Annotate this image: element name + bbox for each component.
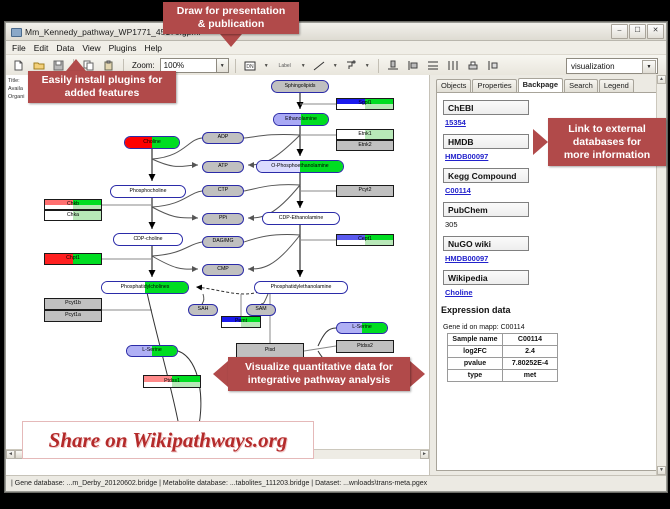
node-label: SAM	[255, 307, 266, 312]
window-controls[interactable]: – ☐ ✕	[611, 24, 664, 39]
section-link-nugo-wiki[interactable]: HMDB00097	[445, 254, 659, 263]
minimize-button[interactable]: –	[611, 24, 628, 39]
metabolite-node-ctp[interactable]: CTP	[202, 185, 244, 197]
node-label: Cept1	[358, 237, 372, 242]
node-label: Pcyt1b	[65, 301, 81, 306]
tab-backpage[interactable]: Backpage	[518, 78, 563, 92]
share-banner: Share on Wikipathways.org	[22, 421, 314, 459]
distribute-horizontal-icon[interactable]	[445, 57, 462, 74]
metabolite-node-l-serine-right[interactable]: L-Serine	[336, 322, 388, 334]
callout-plugins-line2: added features	[42, 87, 163, 100]
node-label: SAH	[198, 307, 209, 312]
scroll-left-arrow-icon[interactable]: ◄	[6, 450, 15, 459]
expression-key: log2FC	[448, 346, 503, 358]
align-bottom-icon[interactable]	[385, 57, 402, 74]
metabolite-node-phosphocholine[interactable]: Phosphocholine	[110, 185, 186, 198]
gene-node-chpt1[interactable]: Chpt1	[44, 253, 102, 265]
gene-node-pemt[interactable]: Pemt	[221, 316, 261, 328]
status-bar-text: | Gene database: ...m_Derby_20120602.bri…	[6, 480, 427, 487]
close-button[interactable]: ✕	[647, 24, 664, 39]
gene-node-ptdss1[interactable]: Ptdss1	[143, 375, 201, 388]
gene-node-sgpl1[interactable]: Sgpl1	[336, 98, 394, 110]
menu-edit[interactable]: Edit	[34, 43, 49, 53]
tab-legend[interactable]: Legend	[599, 79, 634, 92]
gene-node-pcyt1a[interactable]: Pcyt1a	[44, 310, 102, 322]
node-label: Pisd	[265, 348, 275, 353]
datanode-chevron-down-icon[interactable]: ▼	[262, 57, 271, 74]
section-link-wikipedia[interactable]: Choline	[445, 288, 659, 297]
expression-row: pvalue7.80252E-4	[448, 358, 558, 370]
expression-value: C00114	[503, 334, 558, 346]
maximize-button[interactable]: ☐	[629, 24, 646, 39]
gene-node-ptdss2[interactable]: Ptdss2	[336, 340, 394, 353]
node-label: CTP	[218, 188, 228, 193]
visualization-select[interactable]: visualization ▼	[566, 58, 658, 74]
expression-key: type	[448, 370, 503, 382]
menu-view[interactable]: View	[82, 43, 100, 53]
gene-node-etnk1[interactable]: Etnk1	[336, 129, 394, 140]
node-label: Chkb	[67, 202, 79, 207]
node-label: Etnk1	[358, 132, 371, 137]
metabolite-node-l-serine-left[interactable]: L-Serine	[126, 345, 178, 357]
section-heading-nugo-wiki: NuGO wiki	[443, 236, 529, 251]
datanode-icon[interactable]: DN	[242, 57, 259, 74]
node-label: Phosphatidylethanolamine	[271, 285, 332, 290]
pathway-canvas[interactable]: Title: Availa Organi	[6, 75, 430, 475]
node-label: ADP	[218, 135, 229, 140]
node-label: PPi	[219, 216, 227, 221]
callout-draw-line1: Draw for presentation	[177, 5, 286, 18]
node-label: Ptdss2	[357, 344, 373, 349]
callout-visualize-tail-left	[213, 361, 228, 387]
tab-search[interactable]: Search	[564, 79, 598, 92]
node-label: Chka	[67, 213, 79, 218]
distribute-vertical-icon[interactable]	[425, 57, 442, 74]
section-heading-hmdb: HMDB	[443, 134, 529, 149]
visualization-chevron-down-icon[interactable]: ▼	[642, 60, 656, 74]
section-heading-chebi: ChEBI	[443, 100, 529, 115]
section-heading-pubchem: PubChem	[443, 202, 529, 217]
menu-file[interactable]: File	[12, 43, 26, 53]
callout-visualize-tail-right	[410, 361, 425, 387]
node-label: CDP-choline	[133, 237, 162, 242]
node-label: Pcyt2	[359, 188, 372, 193]
gene-node-pcyt1b[interactable]: Pcyt1b	[44, 298, 102, 310]
callout-links-line2: databases for	[564, 136, 650, 149]
scroll-right-arrow-icon[interactable]: ►	[420, 450, 429, 459]
metabolite-node-sah[interactable]: SAH	[188, 304, 218, 316]
metabolite-node-atp[interactable]: ATP	[202, 161, 244, 173]
metabolite-node-sam[interactable]: SAM	[246, 304, 276, 316]
callout-link-external-databases: Link to external databases for more info…	[548, 118, 666, 166]
status-bar: | Gene database: ...m_Derby_20120602.bri…	[6, 475, 666, 491]
expression-key: Sample name	[448, 334, 503, 346]
metabolite-node-cmp[interactable]: CMP	[202, 264, 244, 276]
metabolite-node-dagmg[interactable]: DAG/MG	[202, 236, 244, 248]
metabolite-node-phosphatidylethanolamine[interactable]: Phosphatidylethanolamine	[254, 281, 348, 294]
node-label: ATP	[218, 164, 228, 169]
expression-value: 2.4	[503, 346, 558, 358]
node-label: Phosphatidylcholines	[121, 285, 170, 290]
metabolite-node-choline-top[interactable]: Choline	[124, 136, 180, 149]
node-label: L-Serine	[352, 325, 372, 330]
node-label: Sgpl1	[358, 101, 371, 106]
new-file-icon[interactable]	[10, 57, 27, 74]
zoom-dropdown-chevron-down-icon[interactable]: ▼	[217, 58, 229, 73]
expression-key: pvalue	[448, 358, 503, 370]
gene-id-line: Gene id on mapp: C00114	[443, 324, 659, 331]
line-chevron-down-icon[interactable]: ▼	[331, 57, 340, 74]
gene-node-etnk2[interactable]: Etnk2	[336, 140, 394, 151]
tab-objects[interactable]: Objects	[436, 79, 471, 92]
metabolite-node-sphingolipids[interactable]: Sphingolipids	[271, 80, 329, 93]
menu-data[interactable]: Data	[56, 43, 74, 53]
node-label: CMP	[217, 267, 229, 272]
section-heading-wikipedia: Wikipedia	[443, 270, 529, 285]
svg-text:DN: DN	[247, 64, 255, 70]
metabolite-node-o-phosphoethanolamine[interactable]: O-Phosphoethanolamine	[256, 160, 344, 173]
line-icon[interactable]	[311, 57, 328, 74]
metabolite-node-ppi[interactable]: PPi	[202, 213, 244, 225]
side-panel-tabs[interactable]: ObjectsPropertiesBackpageSearchLegend	[436, 78, 662, 92]
zoom-label: Zoom:	[132, 61, 155, 70]
callout-visualize-quantitative-data: Visualize quantitative data for integrat…	[228, 357, 410, 391]
metabolite-node-adp[interactable]: ADP	[202, 132, 244, 144]
print-icon[interactable]	[465, 57, 482, 74]
gene-node-cept1[interactable]: Cept1	[336, 234, 394, 246]
toolbar-separator-3	[235, 59, 236, 73]
node-label: CDP-Ethanolamine	[279, 216, 323, 221]
callout-draw-tail	[220, 34, 242, 47]
callout-plugins-line1: Easily install plugins for	[42, 74, 163, 87]
node-label: DAG/MG	[212, 239, 233, 244]
label-chevron-down-icon[interactable]: ▼	[299, 57, 308, 74]
gene-node-chka[interactable]: Chka	[44, 210, 102, 221]
toolbar-separator-4	[378, 59, 379, 73]
callout-links-line1: Link to external	[564, 123, 650, 136]
scroll-down-arrow-icon[interactable]: ▼	[657, 466, 666, 475]
node-label: Choline	[143, 140, 161, 145]
tab-properties[interactable]: Properties	[472, 79, 516, 92]
menu-plugins[interactable]: Plugins	[109, 43, 137, 53]
metabolite-node-phosphatidylcholines[interactable]: Phosphatidylcholines	[101, 281, 189, 294]
metabolite-node-cdp-choline[interactable]: CDP-choline	[113, 233, 183, 246]
callout-visualize-line2: integrative pathway analysis	[245, 374, 393, 387]
gene-node-pcyt2[interactable]: Pcyt2	[336, 185, 394, 197]
expression-value: met	[503, 370, 558, 382]
expression-data-title: Expression data	[441, 305, 659, 315]
callout-visualize-line1: Visualize quantitative data for	[245, 361, 393, 374]
callout-links-line3: more information	[564, 149, 650, 162]
section-heading-kegg-compound: Kegg Compound	[443, 168, 529, 183]
expression-row: log2FC2.4	[448, 346, 558, 358]
order-icon[interactable]	[485, 57, 502, 74]
title-bar: Mm_Kennedy_pathway_WP1771_45176.gpml – ☐…	[6, 23, 666, 41]
label-icon[interactable]: Label	[274, 57, 296, 74]
node-label: Phosphocholine	[130, 189, 167, 194]
callout-links-tail	[533, 129, 548, 155]
node-label: Chpt1	[66, 256, 80, 261]
callout-easily-install-plugins: Easily install plugins for added feature…	[28, 71, 176, 103]
visualization-select-value: visualization	[571, 62, 615, 71]
node-label: L-Serine	[142, 348, 162, 353]
callout-draw-for-presentation: Draw for presentation & publication	[163, 2, 299, 34]
node-label: Sphingolipids	[285, 84, 316, 89]
node-label: O-Phosphoethanolamine	[271, 164, 328, 169]
node-label: Etnk2	[358, 143, 371, 148]
callout-draw-line2: & publication	[177, 18, 286, 31]
anchor-icon[interactable]	[343, 57, 360, 74]
expression-row: typemet	[448, 370, 558, 382]
expression-row: Sample nameC00114	[448, 334, 558, 346]
share-banner-text: Share on Wikipathways.org	[49, 428, 288, 453]
node-label: Pcyt1a	[65, 313, 81, 318]
anchor-chevron-down-icon[interactable]: ▼	[363, 57, 372, 74]
callout-plugins-tail	[66, 59, 86, 71]
expression-table: Sample nameC00114log2FC2.4pvalue7.80252E…	[447, 333, 558, 382]
app-icon	[10, 26, 21, 37]
section-link-kegg-compound[interactable]: C00114	[445, 186, 659, 195]
scroll-up-arrow-icon[interactable]: ▲	[657, 75, 666, 84]
menu-bar: File Edit Data View Plugins Help	[6, 41, 666, 55]
node-label: Ethanolamine	[285, 117, 317, 122]
node-label: Ptdss1	[164, 379, 180, 384]
align-left-icon[interactable]	[405, 57, 422, 74]
screenshot-root: Mm_Kennedy_pathway_WP1771_45176.gpml – ☐…	[0, 0, 670, 509]
gene-node-chkb[interactable]: Chkb	[44, 199, 102, 210]
menu-help[interactable]: Help	[145, 43, 162, 53]
expression-value: 7.80252E-4	[503, 358, 558, 370]
node-label: Pemt	[235, 319, 247, 324]
metabolite-node-cdp-ethanolamine[interactable]: CDP-Ethanolamine	[262, 212, 340, 225]
section-value-pubchem: 305	[445, 220, 659, 229]
metabolite-node-ethanolamine-top[interactable]: Ethanolamine	[273, 113, 329, 126]
